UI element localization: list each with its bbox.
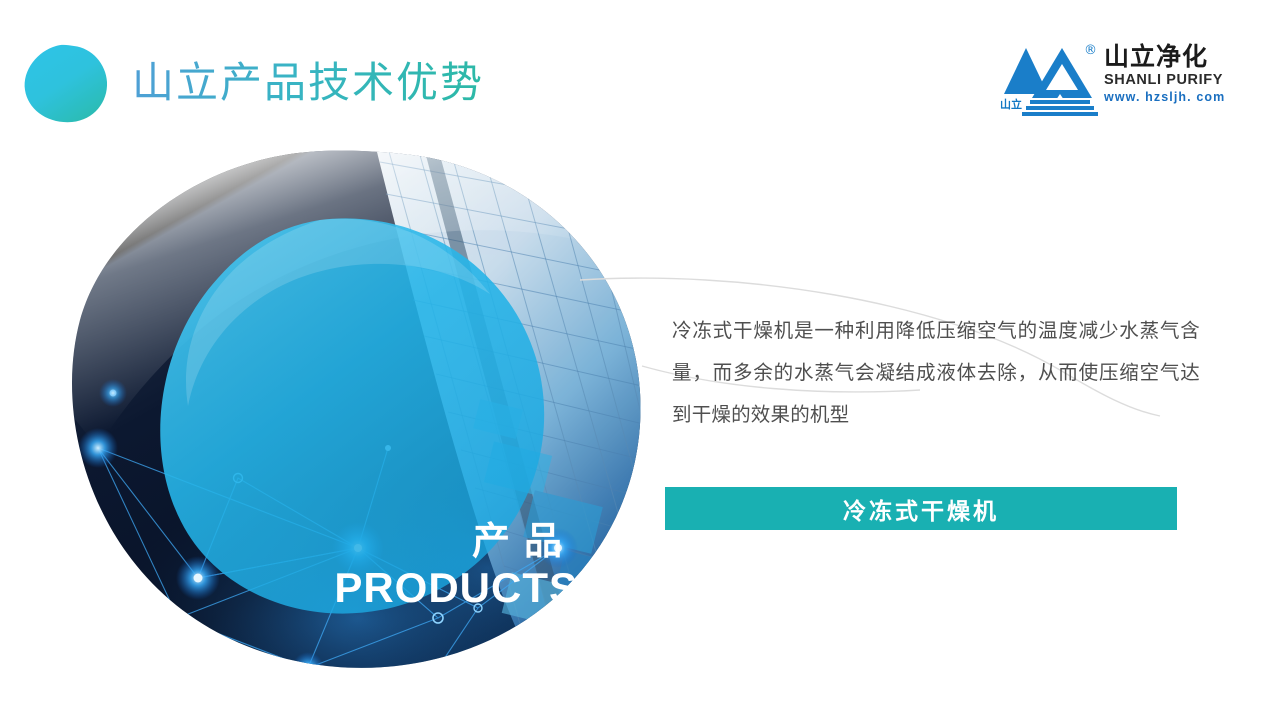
svg-text:®: ® bbox=[1084, 43, 1097, 58]
logo-mark-label: 山立 bbox=[1000, 96, 1022, 112]
logo-website: www. hzsljh. com bbox=[1104, 89, 1222, 105]
product-name-label: 冷冻式干燥机 bbox=[843, 492, 999, 526]
page-title: 山立产品技术优势 bbox=[132, 60, 484, 106]
logo-company-cn: 山立净化 bbox=[1104, 44, 1222, 71]
logo-company-en: SHANLI PURIFY bbox=[1104, 71, 1222, 89]
brand-logo: ® 山立 山立净化 SHANLI PURIFY www. hzsljh. com bbox=[1000, 40, 1218, 126]
products-blob-graphic: 产品 PRODUCTS bbox=[58, 148, 668, 673]
logo-text-block: 山立净化 SHANLI PURIFY www. hzsljh. com bbox=[1104, 44, 1222, 105]
description-text: 冷冻式干燥机是一种利用降低压缩空气的温度减少水蒸气含量，而多余的水蒸气会凝结成液… bbox=[672, 310, 1200, 436]
blob-icon bbox=[22, 44, 110, 124]
product-name-banner[interactable]: 冷冻式干燥机 bbox=[665, 487, 1177, 530]
slide-root: 山立产品技术优势 ® 山立 山立净化 SHANLI PURIFY www. hz… bbox=[0, 0, 1280, 720]
